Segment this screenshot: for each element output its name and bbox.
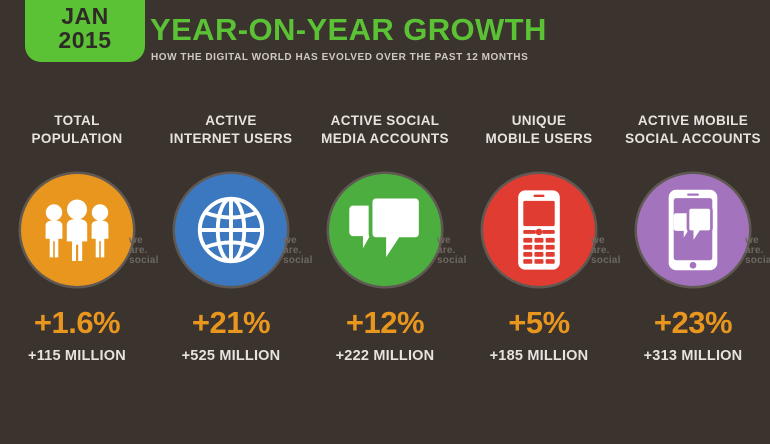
speech-bubbles-icon [347,195,423,265]
column-heading: ACTIVE MOBILE SOCIAL ACCOUNTS [625,112,761,156]
absolute-value: +222 MILLION [336,349,435,364]
percent-value: +1.6% [34,307,120,338]
icon-circle-wrap: we are. social [637,174,749,286]
column-heading: UNIQUE MOBILE USERS [486,112,593,156]
infographic-header: JAN 2015 YEAR-ON-YEAR GROWTH HOW THE DIG… [0,0,770,90]
icon-circle [637,174,749,286]
icon-circle [329,174,441,286]
metric-column-total-population: TOTAL POPULATION we are. social +1.6% +1… [0,112,154,444]
percent-value: +23% [654,307,732,338]
date-badge: JAN 2015 [25,0,145,62]
page-subtitle: HOW THE DIGITAL WORLD HAS EVOLVED OVER T… [151,52,528,63]
absolute-value: +185 MILLION [490,349,589,364]
smartphone-chat-icon [667,188,719,272]
metric-columns: TOTAL POPULATION we are. social +1.6% +1… [0,112,770,444]
icon-circle-wrap: we are. social [175,174,287,286]
metric-column-active-internet-users: ACTIVE INTERNET USERS we are. social +21… [154,112,308,444]
icon-circle-wrap: we are. social [21,174,133,286]
column-heading: ACTIVE INTERNET USERS [170,112,293,156]
column-heading: ACTIVE SOCIAL MEDIA ACCOUNTS [321,112,449,156]
icon-circle [483,174,595,286]
watermark-we-are-social: we are. social [745,236,770,267]
column-heading: TOTAL POPULATION [32,112,123,156]
badge-month: JAN [61,5,109,28]
absolute-value: +313 MILLION [644,349,743,364]
people-group-icon [41,199,113,261]
icon-circle [175,174,287,286]
metric-column-active-mobile-social-accounts: ACTIVE MOBILE SOCIAL ACCOUNTS we are. so… [616,112,770,444]
absolute-value: +525 MILLION [182,349,281,364]
icon-circle-wrap: we are. social [483,174,595,286]
metric-column-unique-mobile-users: UNIQUE MOBILE USERS [462,112,616,444]
globe-icon [192,191,270,269]
badge-year: 2015 [58,29,111,52]
icon-circle-wrap: we are. social [329,174,441,286]
percent-value: +12% [346,307,424,338]
percent-value: +21% [192,307,270,338]
page-title: YEAR-ON-YEAR GROWTH [150,12,547,48]
absolute-value: +115 MILLION [28,349,126,364]
icon-circle [21,174,133,286]
feature-phone-icon [517,189,561,271]
percent-value: +5% [508,307,569,338]
metric-column-active-social-media-accounts: ACTIVE SOCIAL MEDIA ACCOUNTS we are. soc… [308,112,462,444]
